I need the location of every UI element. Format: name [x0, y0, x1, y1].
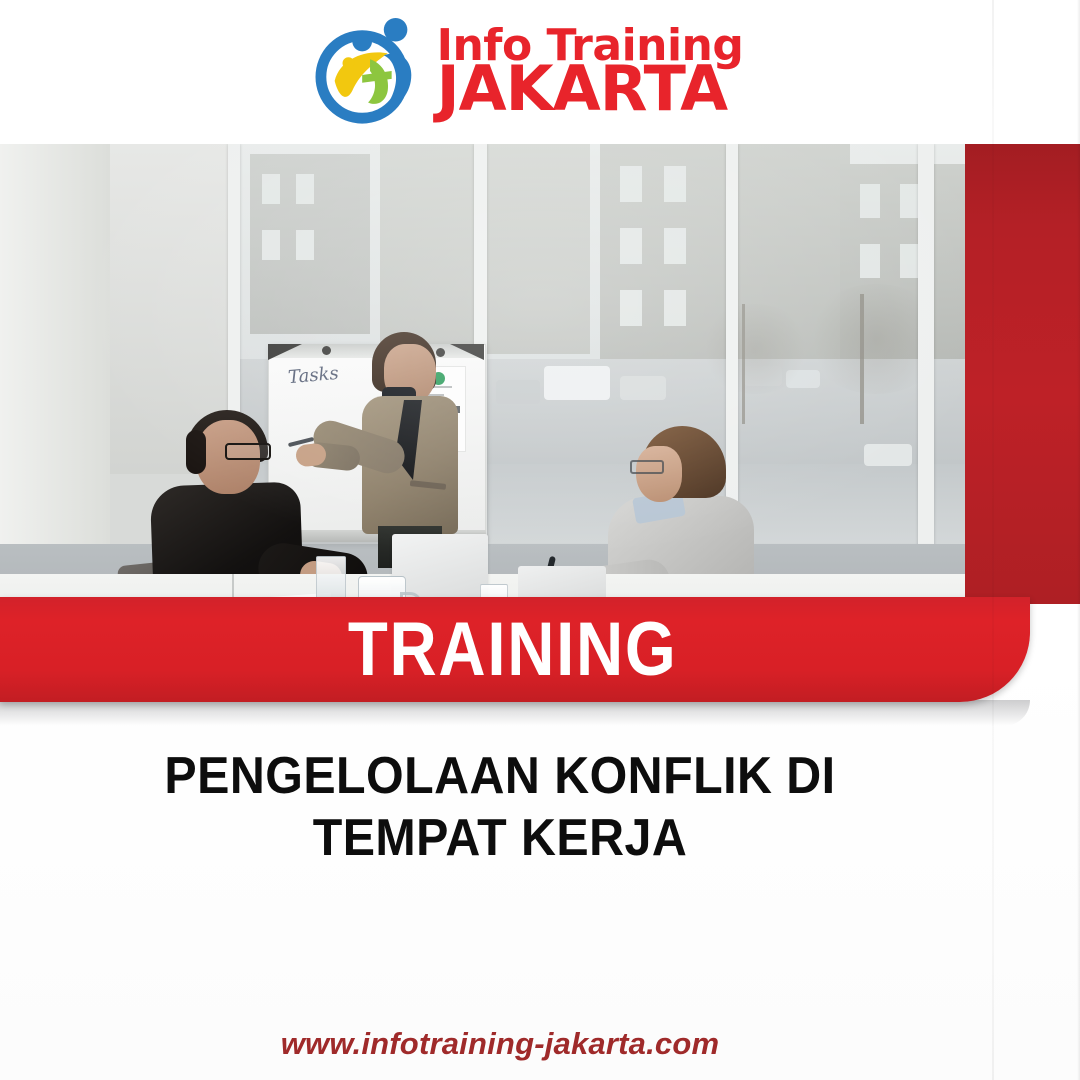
banner-title: TRAINING — [348, 606, 678, 693]
logo-line-2: JAKARTA — [437, 62, 744, 117]
training-banner: TRAINING — [0, 597, 1030, 702]
footer: www.infotraining-jakarta.com — [0, 1026, 1000, 1062]
hero-photo: Tasks — [0, 144, 965, 599]
banner-shadow — [0, 700, 1030, 726]
poster-canvas: Info Training JAKARTA — [0, 0, 1080, 1080]
title-line-2: TEMPAT KERJA — [35, 807, 965, 869]
title-line-1: PENGELOLAAN KONFLIK DI — [35, 745, 965, 807]
title-block: PENGELOLAAN KONFLIK DI TEMPAT KERJA — [0, 745, 1000, 870]
website-url[interactable]: www.infotraining-jakarta.com — [281, 1026, 720, 1061]
brand-logo[interactable]: Info Training JAKARTA — [313, 16, 744, 128]
logo-wordmark: Info Training JAKARTA — [437, 27, 744, 116]
header: Info Training JAKARTA — [0, 0, 1080, 144]
page-edge-line — [992, 0, 994, 1080]
photo-side-accent-bar — [965, 144, 1080, 604]
logo-mark-icon — [313, 16, 431, 128]
